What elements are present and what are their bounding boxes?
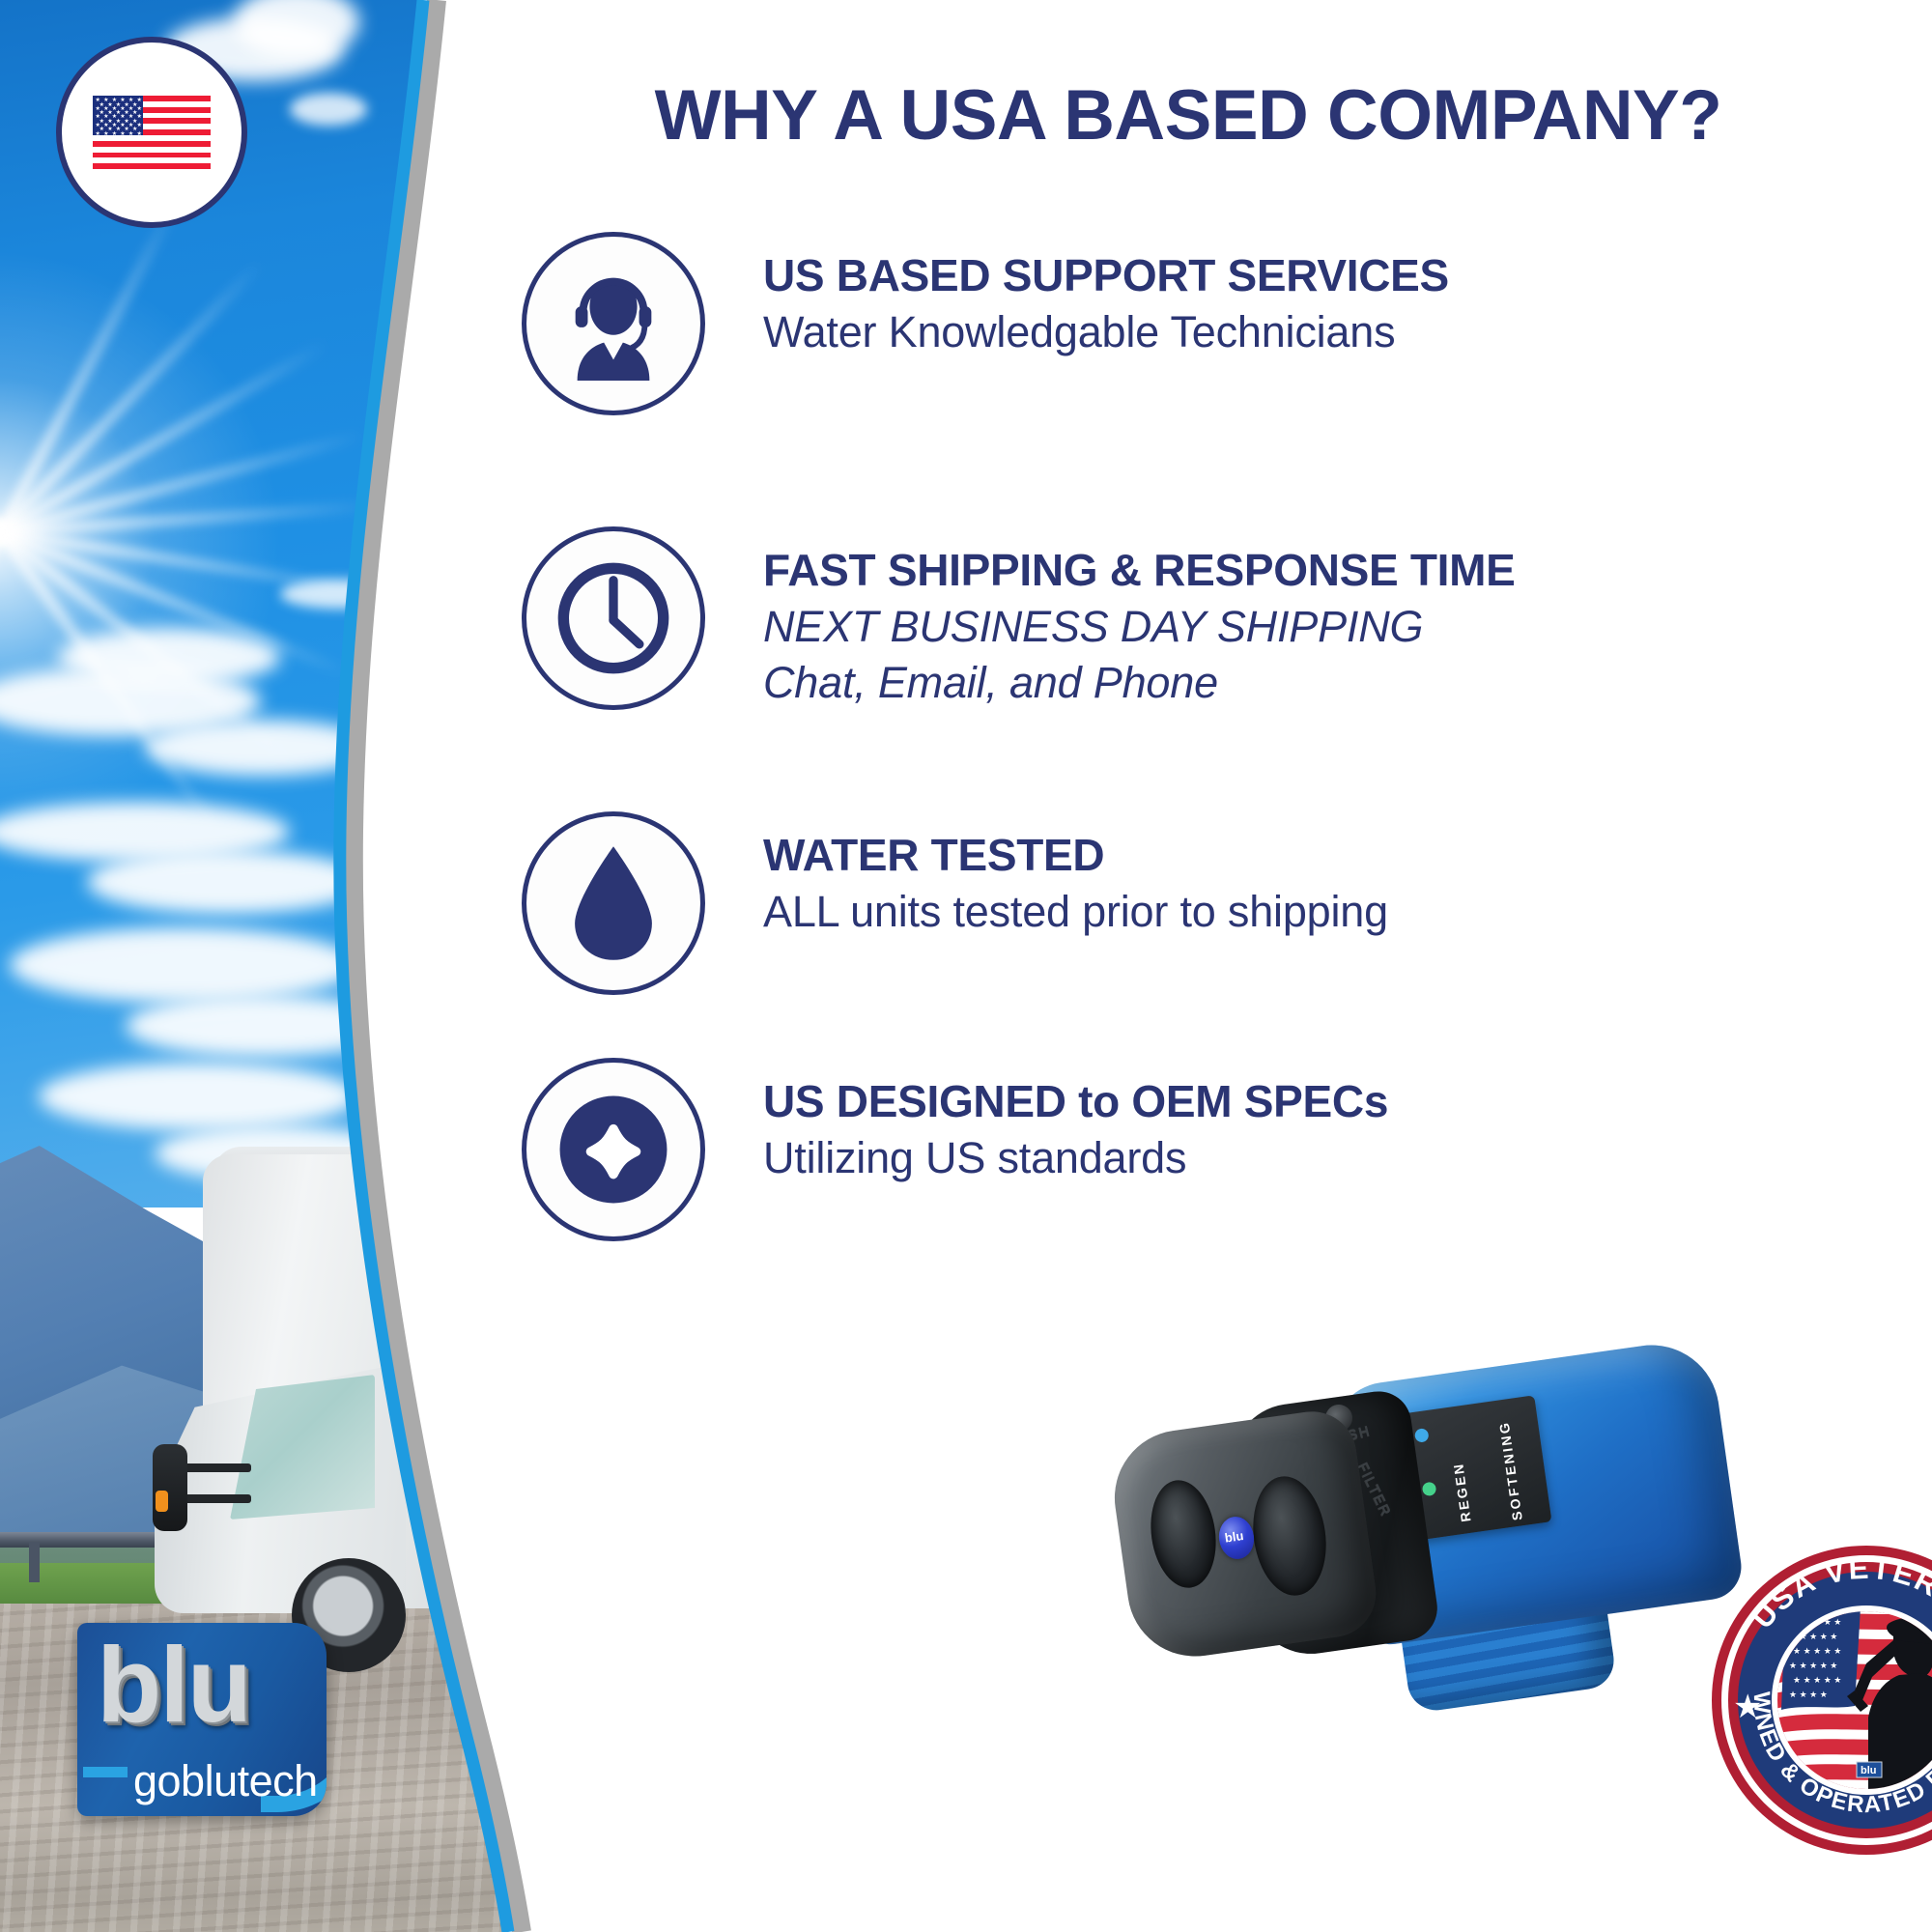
flag-star-icon: ★ (128, 131, 133, 137)
guardrail-post (29, 1542, 40, 1582)
blu-brand-logo: blu goblutech (77, 1623, 327, 1816)
feature-item-support: US BASED SUPPORT SERVICES Water Knowledg… (522, 232, 1449, 415)
flag-star-icon: ★ (96, 131, 100, 137)
cloud (39, 1063, 357, 1130)
usa-veteran-owned-badge: ★ ★ ★ ★ ★ ★ ★ ★ ★ ★ ★ ★ ★ ★ ★ ★ ★ ★ ★ ★ … (1710, 1544, 1932, 1857)
feature-item-oem-specs: US DESIGNED to OEM SPECs Utilizing US st… (522, 1058, 1388, 1241)
led-regen-icon (1414, 1428, 1430, 1443)
feature-item-water-tested: WATER TESTED ALL units tested prior to s… (522, 811, 1388, 995)
rv-door-handle (464, 1444, 473, 1489)
logo-tagline: goblutech (133, 1756, 318, 1806)
cloud (280, 580, 396, 609)
support-agent-headset-icon (522, 232, 705, 415)
feature-item-shipping: FAST SHIPPING & RESPONSE TIME NEXT BUSIN… (522, 526, 1516, 710)
rv-side-mirror (153, 1444, 187, 1531)
product-label-regen: REGEN (1450, 1462, 1474, 1523)
flag-star-icon: ★ (120, 131, 125, 137)
feature-subtitle: ALL units tested prior to shipping (763, 887, 1388, 937)
feature-text: WATER TESTED ALL units tested prior to s… (705, 811, 1388, 937)
cloud (58, 628, 280, 686)
clock-icon (522, 526, 705, 710)
feature-title: US DESIGNED to OEM SPECs (763, 1075, 1388, 1127)
led-softening-icon (1422, 1481, 1437, 1496)
infographic-canvas: ★★★★★★★★★★★★★★★★★★★★★★★★★★★★★★★★★★★★★★★★… (0, 0, 1932, 1932)
feature-subtitle: Utilizing US standards (763, 1133, 1388, 1183)
flag-star-icon: ★ (103, 131, 108, 137)
product-label-softening: SOFTENING (1496, 1420, 1525, 1521)
feature-subtitle-line2: Chat, Email, and Phone (763, 658, 1516, 708)
flag-star-icon: ★ (137, 131, 142, 137)
usa-flag-badge: ★★★★★★★★★★★★★★★★★★★★★★★★★★★★★★★★★★★★★★★★… (56, 37, 247, 228)
svg-text:★ ★ ★ ★: ★ ★ ★ ★ (1789, 1690, 1828, 1699)
flag-star-icon: ★ (112, 131, 117, 137)
united-states-flag-icon: ★★★★★★★★★★★★★★★★★★★★★★★★★★★★★★★★★★★★★★★★… (93, 96, 211, 169)
product-blu-emblem-text: blu (1224, 1528, 1244, 1546)
cloud (290, 93, 367, 126)
feature-text: US BASED SUPPORT SERVICES Water Knowledg… (705, 232, 1449, 357)
feature-subtitle: Water Knowledgable Technicians (763, 307, 1449, 357)
svg-text:★ ★ ★ ★ ★: ★ ★ ★ ★ ★ (1793, 1675, 1841, 1685)
svg-text:★ ★ ★ ★ ★: ★ ★ ★ ★ ★ (1793, 1646, 1841, 1656)
cloud (126, 995, 396, 1057)
cloud (10, 927, 357, 1003)
content-column: WHY A USA BASED COMPANY? US B (502, 0, 1932, 1932)
cloud (145, 720, 377, 776)
feature-title: WATER TESTED (763, 829, 1388, 881)
logo-dash-icon (83, 1767, 128, 1777)
logo-wordmark: blu (97, 1633, 319, 1739)
feature-text: US DESIGNED to OEM SPECs Utilizing US st… (705, 1058, 1388, 1183)
svg-text:★ ★ ★ ★ ★: ★ ★ ★ ★ ★ (1789, 1661, 1837, 1670)
feature-text: FAST SHIPPING & RESPONSE TIME NEXT BUSIN… (705, 526, 1516, 708)
rv-motorhome (145, 1154, 541, 1657)
water-droplet-icon (522, 811, 705, 995)
feature-title: FAST SHIPPING & RESPONSE TIME (763, 544, 1516, 596)
feature-subtitle-line1: NEXT BUSINESS DAY SHIPPING (763, 602, 1516, 652)
svg-text:blu: blu (1861, 1765, 1877, 1776)
feature-title: US BASED SUPPORT SERVICES (763, 249, 1449, 301)
page-title: WHY A USA BASED COMPANY? (502, 75, 1874, 156)
cloud (87, 850, 367, 914)
x-star-icon (522, 1058, 705, 1241)
